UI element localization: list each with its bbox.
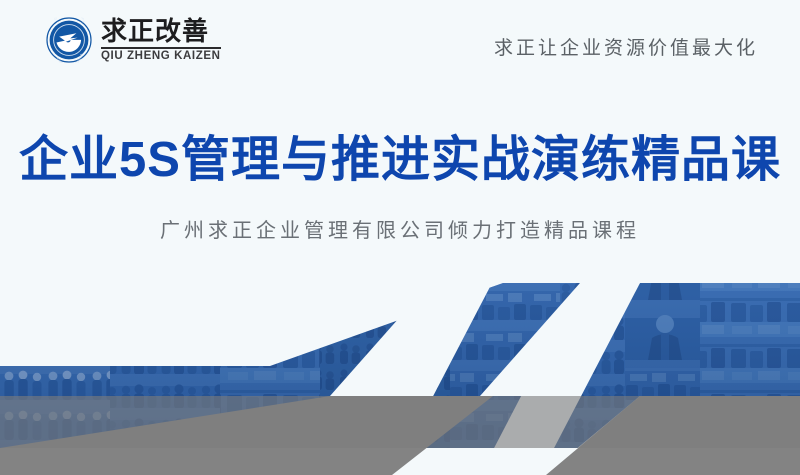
poster-canvas: QIU ZHENG ENTERPRISE MANAGEMENT CONSULTI… bbox=[0, 0, 800, 475]
title-block: 企业5S管理与推进实战演练精品课 广州求正企业管理有限公司倾力打造精品课程 bbox=[0, 132, 800, 243]
brand-name-cn: 求正改善 bbox=[101, 18, 209, 45]
brand-divider bbox=[101, 47, 221, 49]
collage-gray-band bbox=[0, 396, 800, 475]
poster-header: QIU ZHENG ENTERPRISE MANAGEMENT CONSULTI… bbox=[0, 0, 800, 90]
brand-text-block: 求正改善 QIU ZHENG KAIZEN bbox=[101, 18, 221, 63]
page-subtitle: 广州求正企业管理有限公司倾力打造精品课程 bbox=[0, 214, 800, 243]
page-title: 企业5S管理与推进实战演练精品课 bbox=[0, 132, 800, 188]
brand-name-en: QIU ZHENG KAIZEN bbox=[101, 50, 221, 63]
qiuzheng-circular-emblem-icon: QIU ZHENG ENTERPRISE MANAGEMENT CONSULTI… bbox=[46, 17, 92, 63]
header-tagline: 求正让企业资源价值最大化 bbox=[494, 33, 758, 60]
brand-lockup: QIU ZHENG ENTERPRISE MANAGEMENT CONSULTI… bbox=[46, 17, 221, 63]
